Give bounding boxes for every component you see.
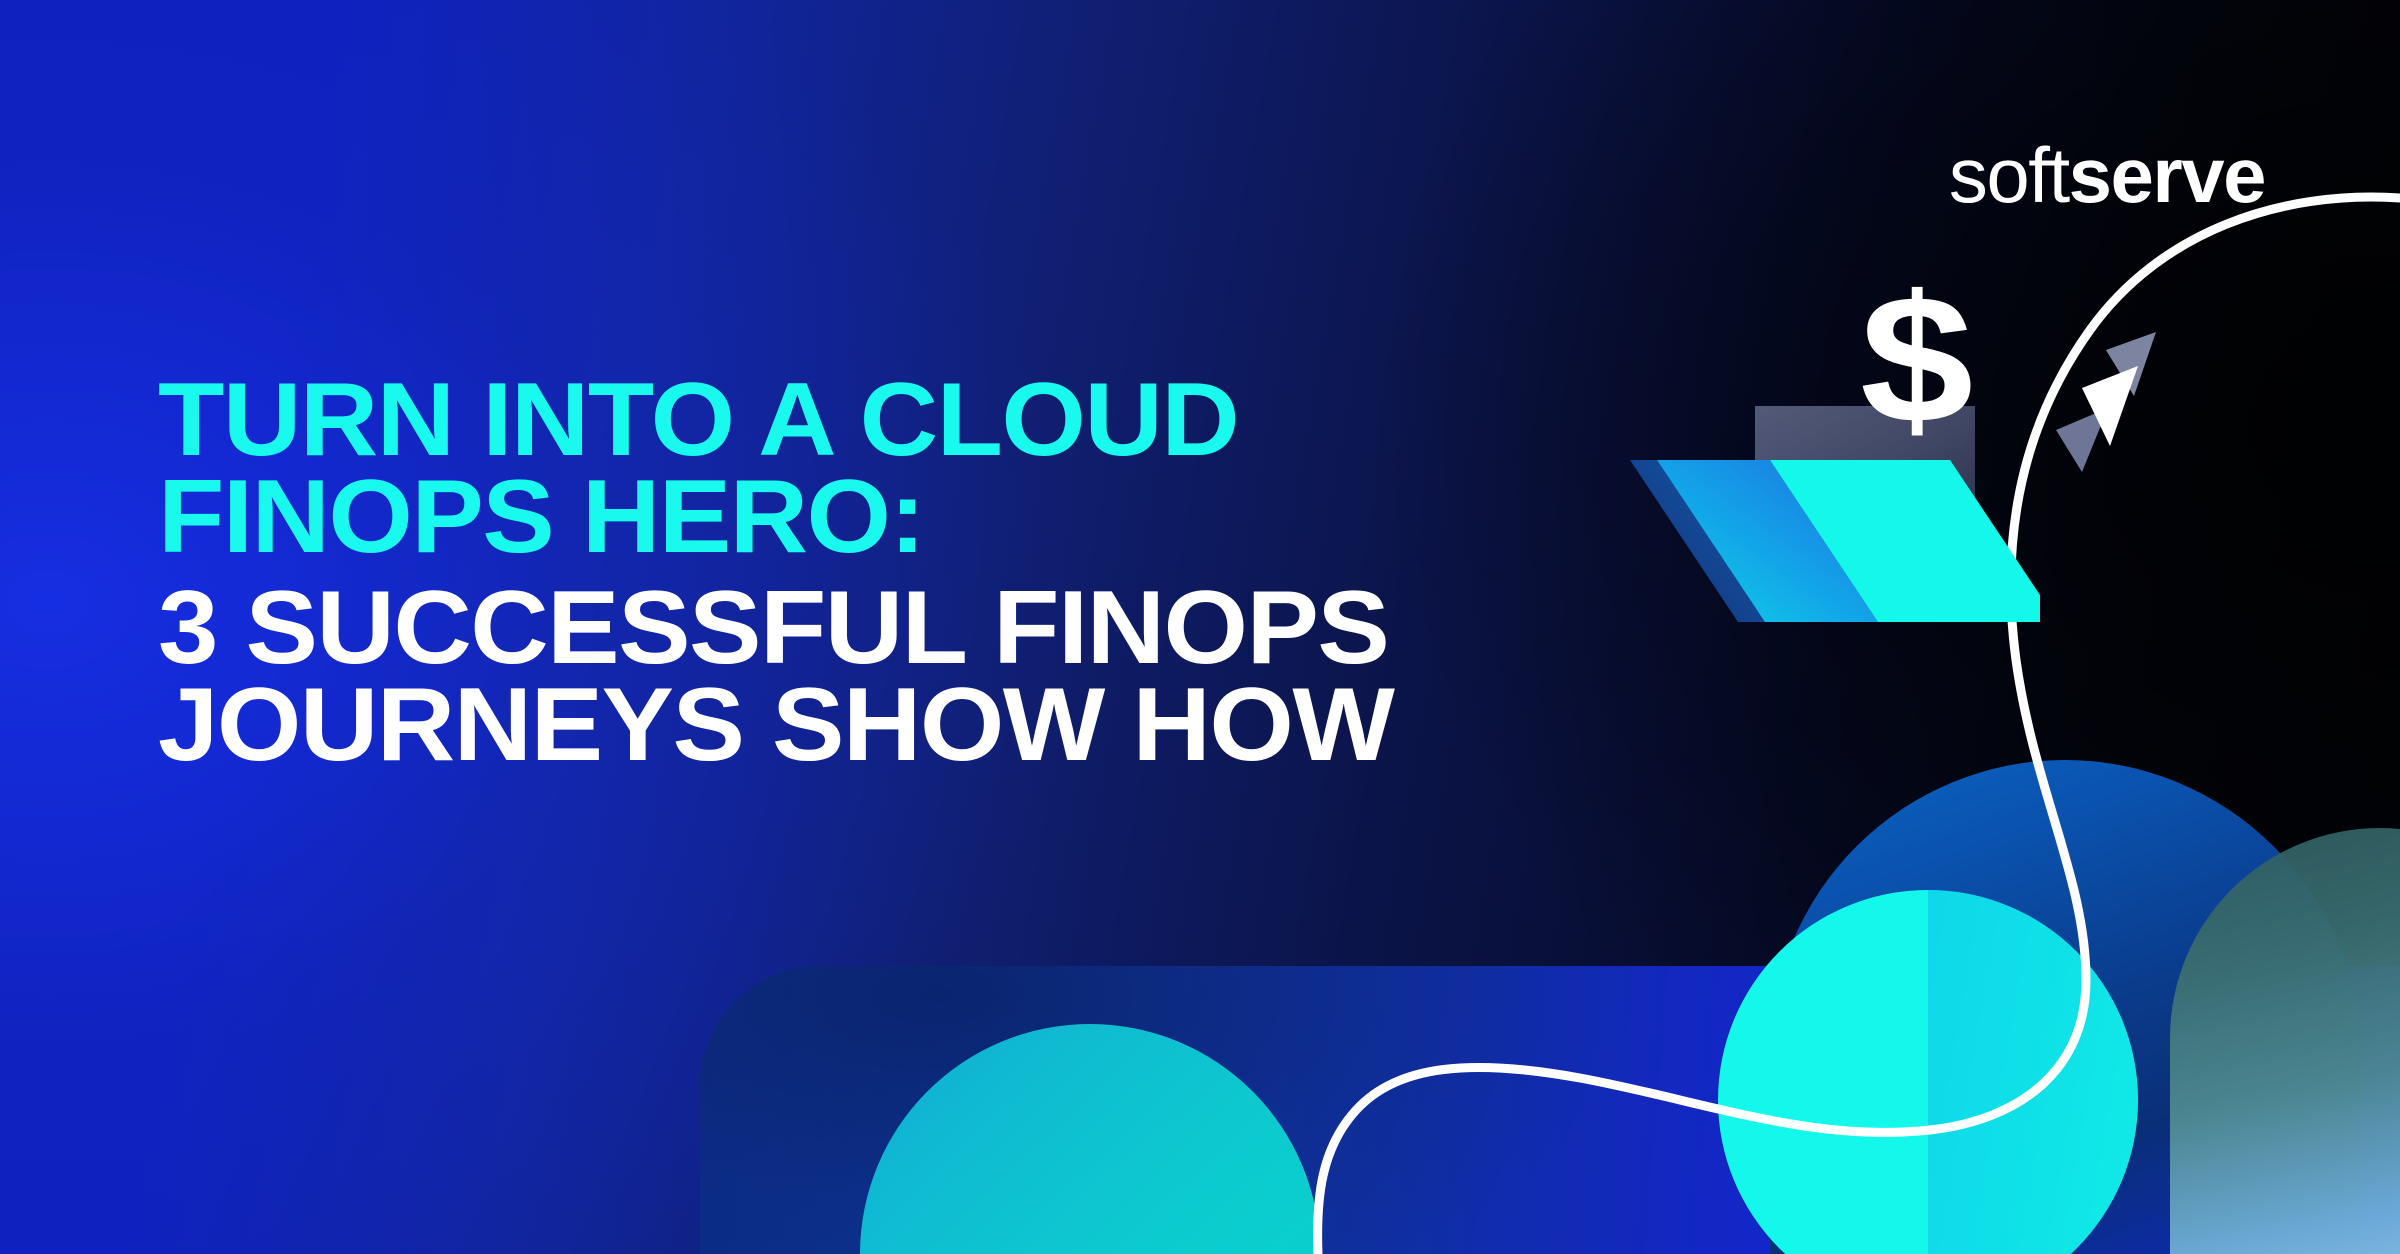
bar-chart-icon (1620, 255, 2040, 665)
headline-line-3: 3 SUCCESSFUL FINOPS (158, 580, 1642, 677)
dollar-sign-icon: $ (1860, 268, 1969, 450)
logo-text-serve: serve (2069, 131, 2265, 219)
logo-text-soft: soft (1949, 131, 2069, 219)
headline-line-2: FINOPS HERO: (158, 469, 1642, 566)
headline-line-1: TURN INTO A CLOUD (158, 372, 1642, 469)
headline-line-4: JOURNEYS SHOW HOW (158, 677, 1642, 774)
promo-banner: $ softserve TURN INTO A CLOUD FINOPS HER… (0, 0, 2400, 1254)
headline-block: TURN INTO A CLOUD FINOPS HERO: 3 SUCCESS… (158, 372, 1578, 774)
arrow-chevrons-icon (2030, 310, 2230, 500)
softserve-logo[interactable]: softserve (1949, 136, 2265, 214)
